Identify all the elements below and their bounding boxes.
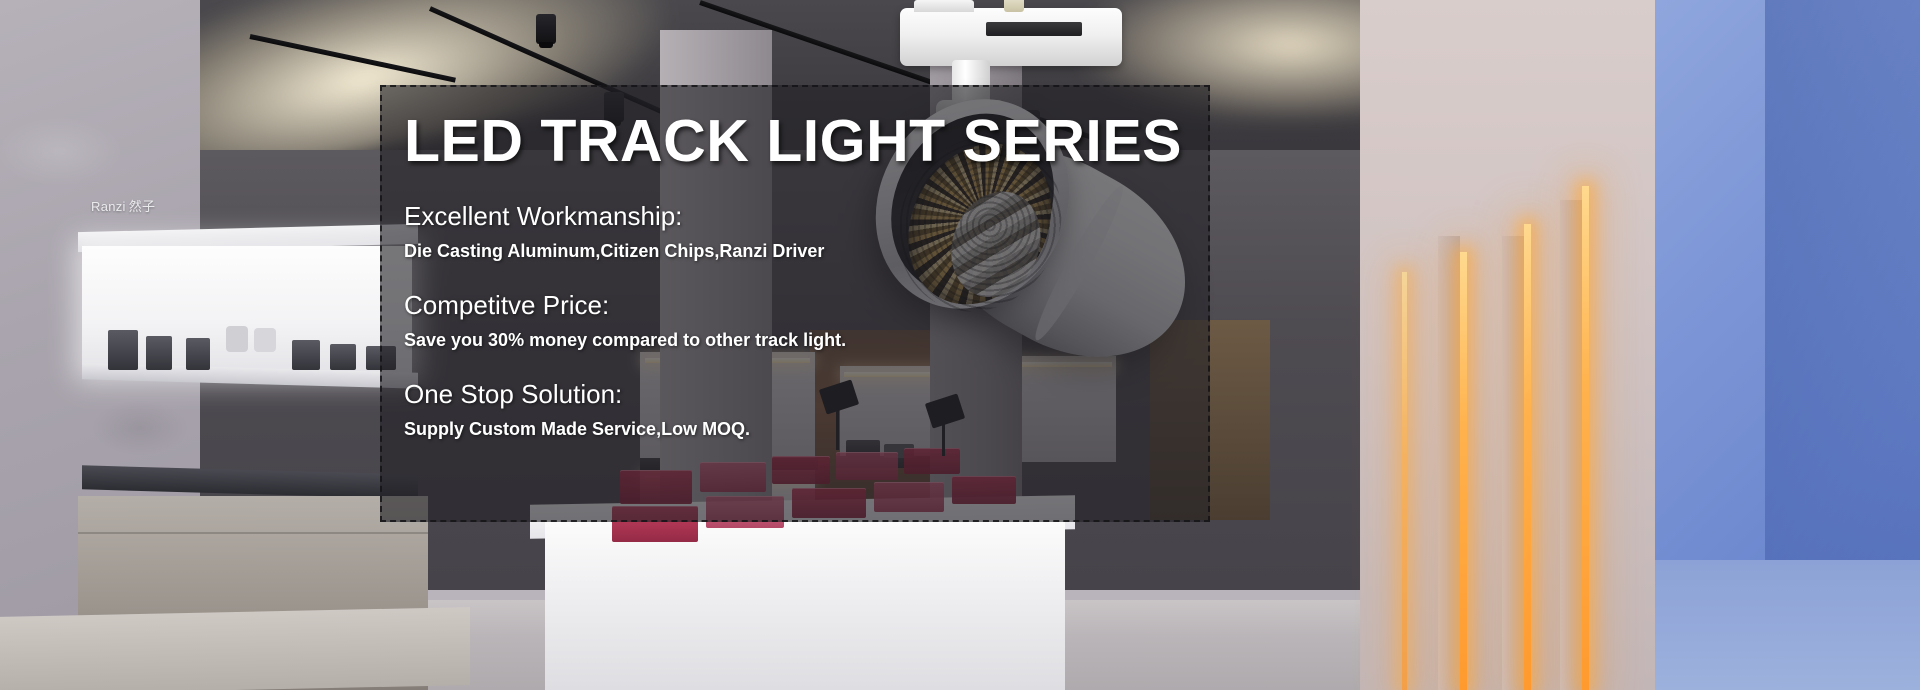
niche-product [292, 340, 320, 370]
wall-fin [1502, 236, 1524, 690]
wall-brand-logo-cn: 然子 [129, 199, 156, 214]
feature-heading: One Stop Solution: [404, 378, 1208, 411]
feature-block: Competitve Price: Save you 30% money com… [404, 289, 1208, 352]
niche-product [254, 328, 276, 352]
wall-fin [1560, 200, 1582, 690]
wall-brand-logo-text: Ranzi [91, 199, 126, 214]
feature-block: One Stop Solution: Supply Custom Made Se… [404, 378, 1208, 441]
niche-product [108, 330, 138, 370]
adapter-knob [1004, 0, 1024, 12]
adapter-contact-slot [986, 22, 1082, 36]
page-title: LED TRACK LIGHT SERIES [404, 113, 1208, 170]
feature-block: Excellent Workmanship: Die Casting Alumi… [404, 200, 1208, 263]
track-adapter [900, 8, 1122, 66]
amber-led-strip [1582, 186, 1589, 690]
display-plinth [545, 520, 1065, 690]
promo-text-overlay: LED TRACK LIGHT SERIES Excellent Workman… [380, 85, 1210, 522]
amber-led-strip [1402, 272, 1407, 690]
feature-heading: Competitve Price: [404, 289, 1208, 322]
niche-product [330, 344, 356, 370]
niche-product [226, 326, 248, 352]
wall-brand-logo: Ranzi然子 [88, 196, 155, 216]
wall-fin [1438, 236, 1460, 690]
promo-banner: Ranzi然子 [0, 0, 1920, 690]
amber-led-strip [1524, 224, 1531, 690]
left-floor [0, 607, 470, 690]
blue-panel-floor [1655, 560, 1920, 690]
track-head-fixture [536, 14, 556, 44]
niche-product [146, 336, 172, 370]
feature-body: Supply Custom Made Service,Low MOQ. [404, 418, 1208, 441]
feature-body: Die Casting Aluminum,Citizen Chips,Ranzi… [404, 240, 1208, 263]
amber-led-strip [1460, 252, 1467, 690]
feature-body: Save you 30% money compared to other tra… [404, 329, 1208, 352]
niche-product [186, 338, 210, 370]
feature-heading: Excellent Workmanship: [404, 200, 1208, 233]
